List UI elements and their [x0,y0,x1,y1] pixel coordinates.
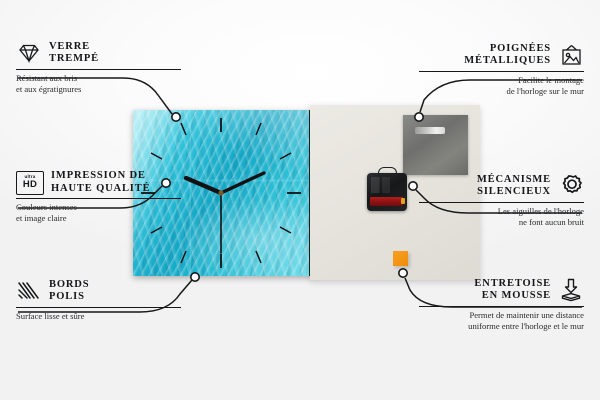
feature-header: POIGNÉES MÉTALLIQUES [419,42,584,68]
wall-hanging-icon [558,42,584,68]
ultra-hd-icon: ultra HD [16,171,44,195]
feature-title-line2: SILENCIEUX [477,186,551,199]
feature-title-line2: POLIS [49,291,89,304]
feature-title-line1: ENTRETOISE [474,278,551,291]
feature-title-line1: BORDS [49,279,89,292]
feature-subtitle-line2: de l'horloge sur le mur [419,86,584,97]
feature-subtitle: Surface lisse et sûre [16,311,181,322]
feature-title-line1: IMPRESSION DE [51,170,150,183]
feature-title-line2: HAUTE QUALITÉ [51,183,150,196]
feature-rule [419,71,584,72]
feature-title-line1: VERRE [49,41,99,54]
feature-subtitle-line1: Facilite le montage [419,75,584,86]
gear-icon [558,173,584,199]
feature-subtitle-line2: ne font aucun bruit [419,217,584,228]
feature-title-line2: EN MOUSSE [474,290,551,303]
feature-rule [419,202,584,203]
feature-mecanisme-silencieux: MÉCANISME SILENCIEUX Les aiguilles de l'… [419,173,584,228]
feature-bords-polis: BORDS POLIS Surface lisse et sûre [16,278,181,322]
feature-subtitle: Résistant aux bris et aux égratignures [16,73,181,94]
ultra-hd-icon-large-text: HD [23,180,37,190]
diamond-icon [16,40,42,66]
feature-impression-hd: ultra HD IMPRESSION DE HAUTE QUALITÉ Cou… [16,170,181,224]
feature-rule [16,69,181,70]
feature-subtitle-line2: uniforme entre l'horloge et le mur [419,321,584,332]
feature-subtitle: Les aiguilles de l'horloge ne font aucun… [419,206,584,227]
callout-dot-poignees [415,113,423,121]
feature-subtitle-line1: Les aiguilles de l'horloge [419,206,584,217]
feature-rule [16,307,181,308]
foam-spacer-icon [558,277,584,303]
feature-title-line1: POIGNÉES [464,43,551,56]
feature-title: MÉCANISME SILENCIEUX [477,174,551,199]
polished-edges-icon [16,278,42,304]
callout-dot-bords-polis [191,273,199,281]
feature-subtitle: Facilite le montage de l'horloge sur le … [419,75,584,96]
feature-header: ultra HD IMPRESSION DE HAUTE QUALITÉ [16,170,181,195]
infographic-canvas: VERRE TREMPÉ Résistant aux bris et aux é… [0,0,600,400]
callout-dot-mecanisme [409,182,417,190]
feature-title-line2: TREMPÉ [49,53,99,66]
feature-title-line1: MÉCANISME [477,174,551,187]
feature-subtitle-line1: Résistant aux bris [16,73,181,84]
callout-dot-entretoise [399,269,407,277]
feature-title: POIGNÉES MÉTALLIQUES [464,43,551,68]
feature-subtitle-line2: et aux égratignures [16,84,181,95]
feature-header: VERRE TREMPÉ [16,40,181,66]
feature-title: IMPRESSION DE HAUTE QUALITÉ [51,170,150,195]
feature-subtitle: Permet de maintenir une distance uniform… [419,310,584,331]
feature-subtitle: Couleurs intenses et image claire [16,202,181,223]
callout-dot-verre-trempe [172,113,180,121]
feature-title-line2: MÉTALLIQUES [464,55,551,68]
feature-verre-trempe: VERRE TREMPÉ Résistant aux bris et aux é… [16,40,181,95]
feature-rule [16,198,181,199]
feature-subtitle-line1: Couleurs intenses [16,202,181,213]
feature-rule [419,306,584,307]
feature-poignees-metalliques: POIGNÉES MÉTALLIQUES Facilite le montage… [419,42,584,97]
feature-title: BORDS POLIS [49,279,89,304]
feature-header: BORDS POLIS [16,278,181,304]
feature-title: ENTRETOISE EN MOUSSE [474,278,551,303]
feature-title: VERRE TREMPÉ [49,41,99,66]
feature-entretoise-en-mousse: ENTRETOISE EN MOUSSE Permet de maintenir… [419,277,584,332]
feature-subtitle-line2: et image claire [16,213,181,224]
feature-subtitle-line1: Permet de maintenir une distance [419,310,584,321]
feature-header: MÉCANISME SILENCIEUX [419,173,584,199]
feature-header: ENTRETOISE EN MOUSSE [419,277,584,303]
feature-subtitle-line1: Surface lisse et sûre [16,311,181,322]
